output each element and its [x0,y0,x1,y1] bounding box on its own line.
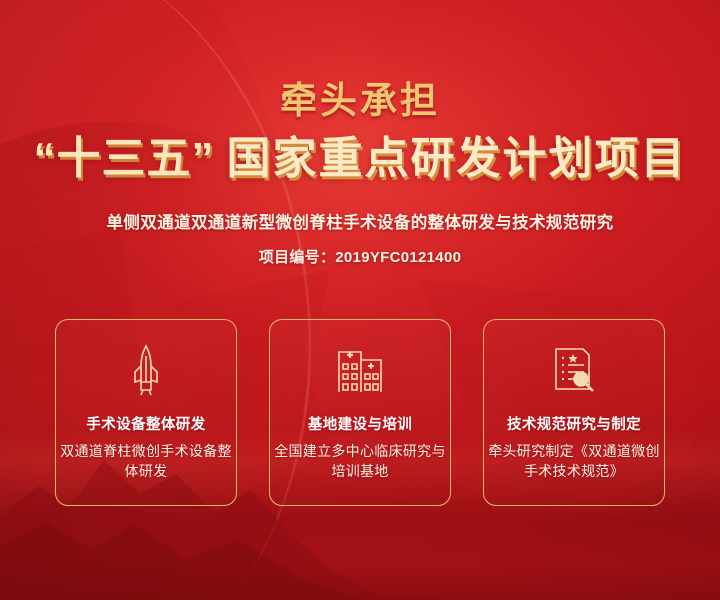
card-title: 手术设备整体研发 [86,413,205,434]
document-magnifier-icon [551,344,597,396]
title-main-part: 国家重点研发计划项目 [227,137,687,181]
card-group: 手术设备整体研发 双通道脊柱微创手术设备整体研发 [55,319,665,506]
card-description: 双通道脊柱微创手术设备整体研发 [56,442,236,482]
card-base-training[interactable]: 基地建设与培训 全国建立多中心临床研究与培训基地 [269,319,451,506]
card-description: 全国建立多中心临床研究与培训基地 [270,442,450,482]
poster-banner: 牵头承担 “十三五” 国家重点研发计划项目 单侧双通道双通道新型微创脊柱手术设备… [0,0,720,600]
rocket-icon [129,344,163,396]
lead-heading: 牵头承担 [0,82,720,119]
card-description: 牵头研究制定《双通道微创手术技术规范》 [484,442,664,482]
project-number: 项目编号：2019YFC0121400 [0,246,720,267]
card-title: 技术规范研究与制定 [507,413,641,434]
card-tech-standard[interactable]: 技术规范研究与制定 牵头研究制定《双通道微创手术技术规范》 [483,319,665,506]
project-subtitle: 单侧双通道双通道新型微创脊柱手术设备的整体研发与技术规范研究 [0,209,720,233]
card-title: 基地建设与培训 [308,413,412,434]
card-equipment-rnd[interactable]: 手术设备整体研发 双通道脊柱微创手术设备整体研发 [55,319,237,506]
main-title-row: “十三五” 国家重点研发计划项目 [0,137,720,181]
hospital-building-icon [336,344,384,396]
poster-header: 牵头承担 “十三五” 国家重点研发计划项目 单侧双通道双通道新型微创脊柱手术设备… [0,0,720,267]
title-quoted-part: “十三五” [34,137,215,181]
